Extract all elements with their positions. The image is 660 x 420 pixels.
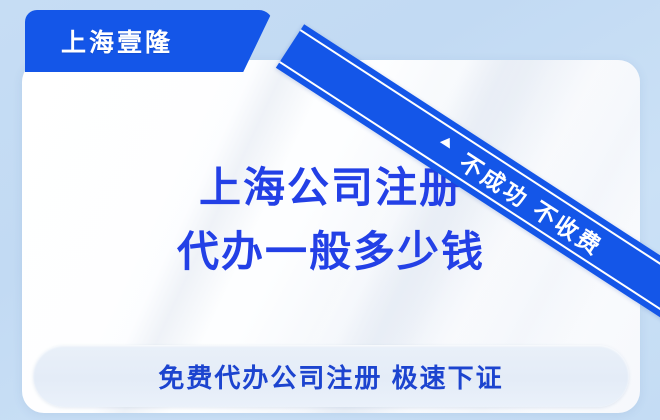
subtitle-pill[interactable]: 免费代办公司注册 极速下证 <box>33 345 629 407</box>
brand-tab-label: 上海壹隆 <box>61 23 173 59</box>
brand-tab[interactable]: 上海壹隆 <box>25 10 273 72</box>
triangle-up-icon <box>440 135 455 149</box>
poster-canvas: 上海公司注册 代办一般多少钱 上海壹隆 免费代办公司注册 极速下证 不成功 不收… <box>0 0 660 420</box>
subtitle-pill-label: 免费代办公司注册 极速下证 <box>158 358 503 395</box>
